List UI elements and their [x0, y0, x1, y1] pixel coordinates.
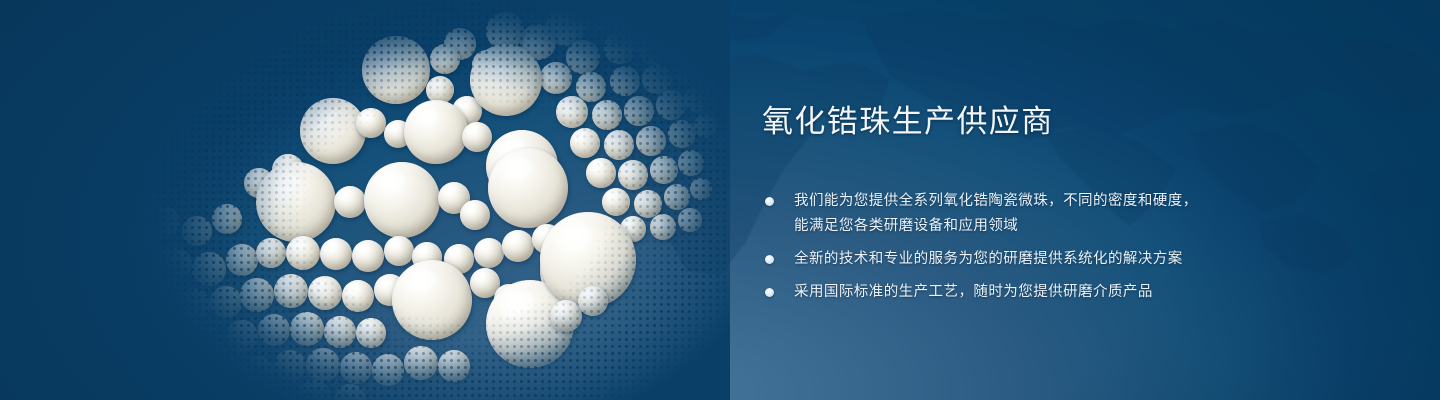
list-item: 我们能为您提供全系列氧化锆陶瓷微珠，不同的密度和硬度， 能满足您各类研磨设备和应…	[762, 189, 1322, 239]
feature-list: 我们能为您提供全系列氧化锆陶瓷微珠，不同的密度和硬度， 能满足您各类研磨设备和应…	[762, 189, 1322, 305]
list-item-line-2: 能满足您各类研磨设备和应用领域	[794, 214, 1322, 239]
list-item-line-1: 我们能为您提供全系列氧化锆陶瓷微珠，不同的密度和硬度，	[794, 193, 1198, 209]
dot-bullet-icon	[765, 255, 774, 264]
list-item: 全新的技术和专业的服务为您的研磨提供系统化的解决方案	[762, 247, 1322, 272]
dot-bullet-icon	[765, 197, 774, 206]
page-title: 氧化锆珠生产供应商	[762, 104, 1322, 141]
list-item-line-1: 采用国际标准的生产工艺，随时为您提供研磨介质产品	[794, 284, 1153, 300]
banner-copy: 氧化锆珠生产供应商 我们能为您提供全系列氧化锆陶瓷微珠，不同的密度和硬度， 能满…	[762, 104, 1322, 305]
hero-banner: 氧化锆珠生产供应商 我们能为您提供全系列氧化锆陶瓷微珠，不同的密度和硬度， 能满…	[0, 0, 1440, 400]
dot-bullet-icon	[765, 288, 774, 297]
list-item: 采用国际标准的生产工艺，随时为您提供研磨介质产品	[762, 280, 1322, 305]
list-item-line-1: 全新的技术和专业的服务为您的研磨提供系统化的解决方案	[794, 251, 1183, 267]
